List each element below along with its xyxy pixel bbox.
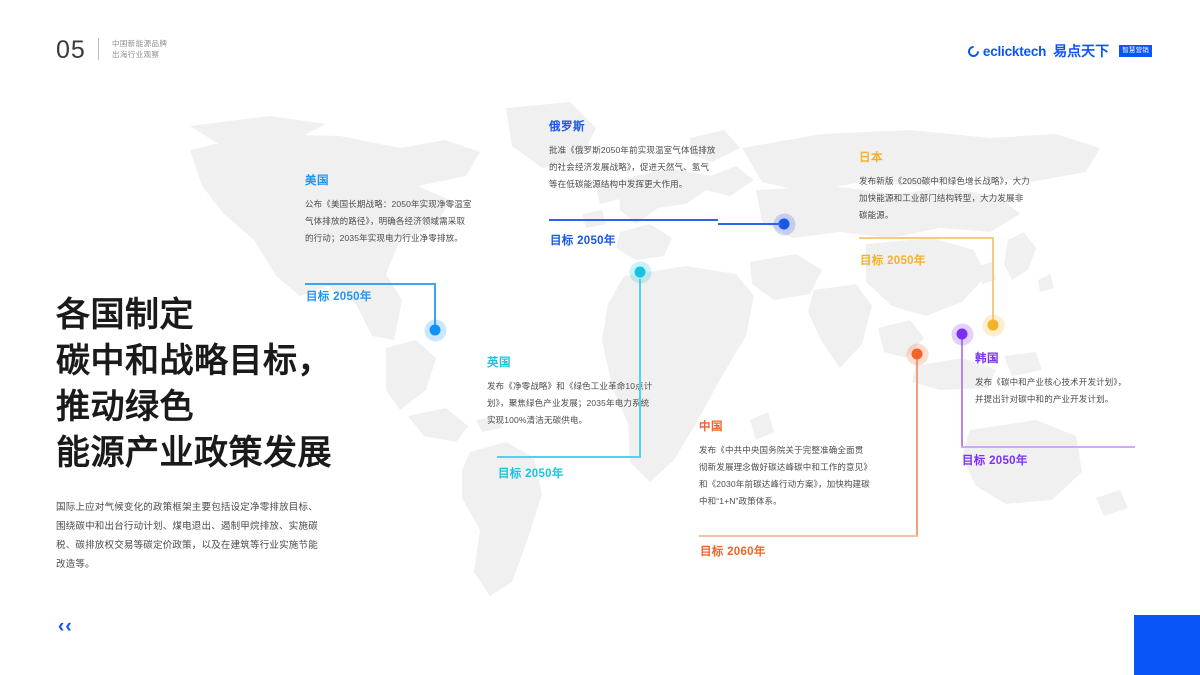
page-description: 国际上应对气候变化的政策框架主要包括设定净零排放目标、围绕碳中和出台行动计划、煤…: [56, 498, 324, 574]
country-name-china: 中国: [699, 418, 871, 434]
chevron-left-icon-2: ‹: [65, 617, 71, 636]
callout-russia: 俄罗斯 批准《俄罗斯2050年前实现温室气体低排放的社会经济发展战略》，促进天然…: [549, 118, 717, 193]
header-subtitle-line1: 中国新能源品牌: [112, 38, 167, 49]
country-body-usa: 公布《美国长期战略：2050年实现净零温室气体排放的路径》，明确各经济领域需采取…: [305, 196, 473, 247]
connector-japan-horizontal: [859, 237, 993, 239]
map-marker-usa[interactable]: [430, 325, 441, 336]
country-name-korea: 韩国: [975, 350, 1135, 366]
connector-japan-vertical: [992, 237, 994, 324]
page-title-line-2: 碳中和战略目标，: [56, 338, 416, 384]
country-name-uk: 英国: [487, 354, 655, 370]
country-body-uk: 发布《净零战略》和《绿色工业革命10点计划》，聚焦绿色产业发展；2035年电力系…: [487, 378, 655, 429]
goal-usa: 目标 2050年: [306, 288, 372, 304]
callout-china: 中国 发布《中共中央国务院关于完整准确全面贯彻新发展理念做好碳达峰碳中和工作的意…: [699, 418, 871, 510]
logo-mark-icon: [966, 43, 982, 59]
map-marker-korea[interactable]: [957, 329, 968, 340]
connector-korea-horizontal: [961, 446, 1135, 448]
goal-china: 目标 2060年: [700, 543, 766, 559]
country-body-japan: 发布新版《2050碳中和绿色增长战略》，大力加快能源和工业部门结构转型，大力发展…: [859, 173, 1031, 224]
goal-uk: 目标 2050年: [498, 465, 564, 481]
connector-china-vertical: [916, 355, 918, 536]
page-number: 05: [56, 36, 86, 65]
map-marker-uk[interactable]: [635, 267, 646, 278]
country-name-japan: 日本: [859, 149, 1031, 165]
page-title-line-3: 推动绿色: [56, 384, 416, 430]
callout-uk: 英国 发布《净零战略》和《绿色工业革命10点计划》，聚焦绿色产业发展；2035年…: [487, 354, 655, 429]
connector-china-horizontal: [699, 535, 918, 537]
page-title-line-4: 能源产业政策发展: [56, 430, 416, 476]
map-marker-japan[interactable]: [988, 320, 999, 331]
country-body-korea: 发布《碳中和产业核心技术开发计划》，并提出针对碳中和的产业开发计划。: [975, 374, 1135, 408]
chevron-left-icon-1: ‹: [58, 617, 64, 636]
header-subtitle-line2: 出海行业观察: [112, 49, 167, 60]
callout-japan: 日本 发布新版《2050碳中和绿色增长战略》，大力加快能源和工业部门结构转型，大…: [859, 149, 1031, 224]
logo-tagline: 智慧营销: [1119, 45, 1152, 57]
header-subtitle: 中国新能源品牌 出海行业观察: [112, 38, 167, 60]
country-name-usa: 美国: [305, 172, 473, 188]
goal-russia: 目标 2050年: [550, 232, 616, 248]
header-divider: [98, 38, 99, 60]
country-body-russia: 批准《俄罗斯2050年前实现温室气体低排放的社会经济发展战略》，促进天然气、氢气…: [549, 142, 717, 193]
connector-uk-horizontal: [497, 456, 641, 458]
country-body-china: 发布《中共中央国务院关于完整准确全面贯彻新发展理念做好碳达峰碳中和工作的意见》和…: [699, 442, 871, 510]
back-navigation-icon[interactable]: ‹ ‹: [58, 617, 72, 636]
goal-japan: 目标 2050年: [860, 252, 926, 268]
connector-usa-horizontal: [305, 283, 435, 285]
map-marker-china[interactable]: [912, 349, 923, 360]
goal-korea: 目标 2050年: [962, 452, 1028, 468]
page-header: 05 中国新能源品牌 出海行业观察 eclicktech 易点天下 智慧营销: [0, 0, 1200, 88]
page-title-block: 各国制定 碳中和战略目标， 推动绿色 能源产业政策发展 国际上应对气候变化的政策…: [56, 292, 416, 574]
logo-text-cn: 易点天下: [1053, 41, 1109, 61]
connector-russia-to-marker: [718, 223, 782, 225]
country-name-russia: 俄罗斯: [549, 118, 717, 134]
callout-usa: 美国 公布《美国长期战略：2050年实现净零温室气体排放的路径》，明确各经济领域…: [305, 172, 473, 247]
logo-text-en: eclicktech: [983, 44, 1046, 59]
connector-korea-vertical: [961, 336, 963, 447]
connector-russia-horizontal: [549, 219, 718, 221]
brand-logo: eclicktech 易点天下 智慧营销: [968, 41, 1152, 61]
connector-uk-vertical: [639, 279, 641, 457]
corner-accent-block: [1134, 615, 1200, 675]
page-title: 各国制定 碳中和战略目标， 推动绿色 能源产业政策发展: [56, 292, 416, 476]
callout-korea: 韩国 发布《碳中和产业核心技术开发计划》，并提出针对碳中和的产业开发计划。: [975, 350, 1135, 408]
